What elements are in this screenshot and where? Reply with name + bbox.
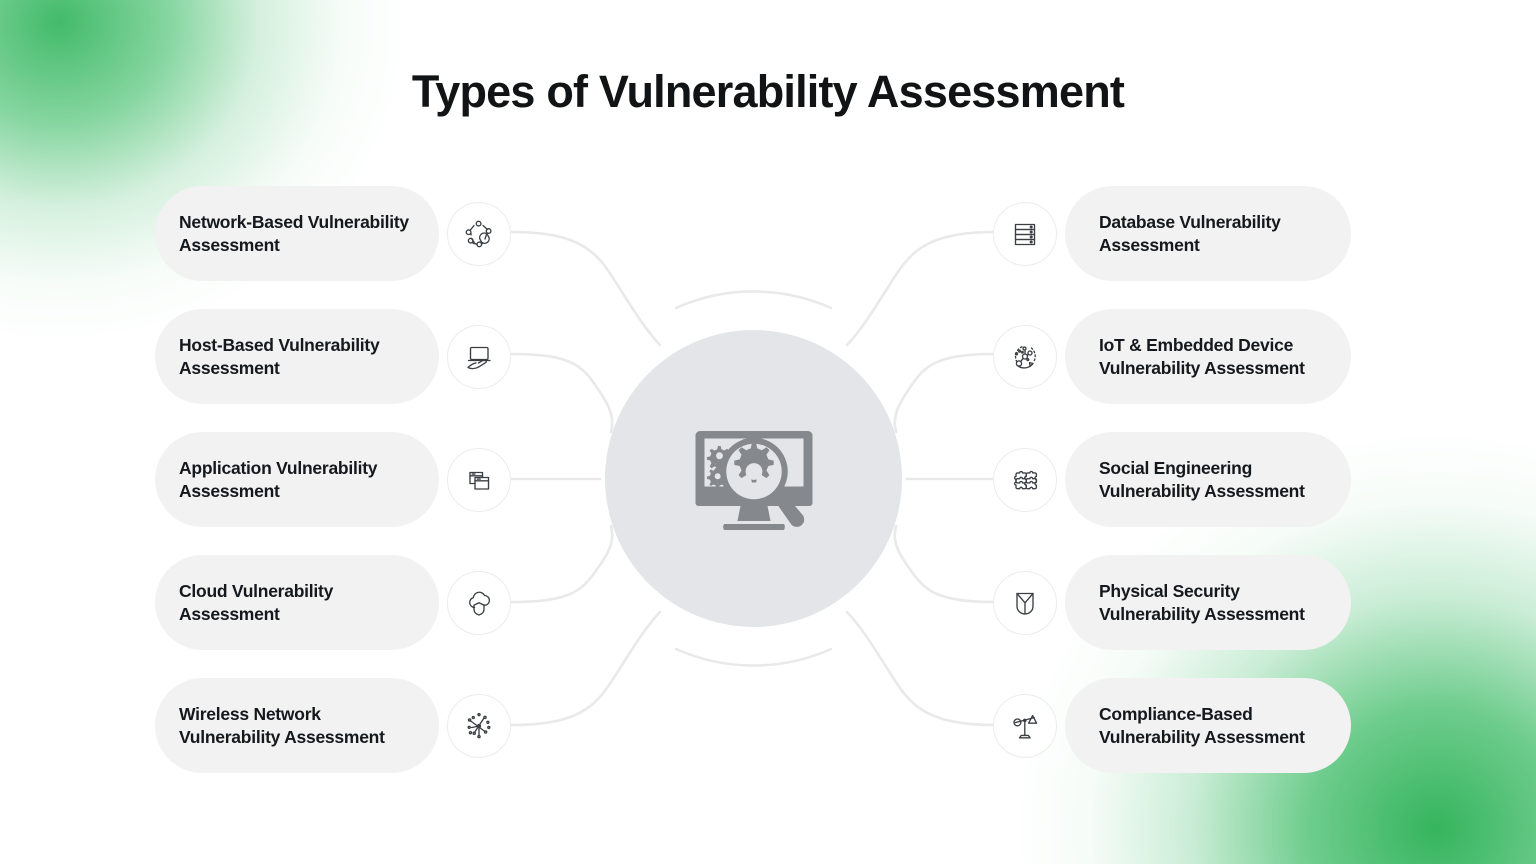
pill-network-based[interactable]: Network-Based Vulnerability Assessment: [155, 186, 439, 281]
balance-scale-icon: [993, 694, 1057, 758]
pill-social-engineering[interactable]: Social Engineering Vulnerability Assessm…: [1065, 432, 1351, 527]
list-item-host-based[interactable]: Host-Based Vulnerability Assessment: [155, 309, 511, 404]
pill-label: Host-Based Vulnerability Assessment: [179, 334, 413, 380]
pill-wireless[interactable]: Wireless Network Vulnerability Assessmen…: [155, 678, 439, 773]
app-windows-icon: [447, 448, 511, 512]
pill-application[interactable]: Application Vulnerability Assessment: [155, 432, 439, 527]
shield-icon: [993, 571, 1057, 635]
list-item-social-engineering[interactable]: Social Engineering Vulnerability Assessm…: [993, 432, 1351, 527]
pill-label: Database Vulnerability Assessment: [1099, 211, 1327, 257]
laptop-in-hand-icon: [447, 325, 511, 389]
pill-label: Network-Based Vulnerability Assessment: [179, 211, 413, 257]
list-item-compliance[interactable]: Compliance-Based Vulnerability Assessmen…: [993, 678, 1351, 773]
puzzle-pieces-icon: [993, 448, 1057, 512]
pill-compliance[interactable]: Compliance-Based Vulnerability Assessmen…: [1065, 678, 1351, 773]
server-rack-icon: [993, 202, 1057, 266]
pill-cloud[interactable]: Cloud Vulnerability Assessment: [155, 555, 439, 650]
pill-label: Social Engineering Vulnerability Assessm…: [1099, 457, 1327, 503]
pill-label: Application Vulnerability Assessment: [179, 457, 413, 503]
list-item-database[interactable]: Database Vulnerability Assessment: [993, 186, 1351, 281]
monitor-gears-magnifier-icon: [679, 404, 829, 554]
list-item-cloud[interactable]: Cloud Vulnerability Assessment: [155, 555, 511, 650]
pill-label: Cloud Vulnerability Assessment: [179, 580, 413, 626]
pill-database[interactable]: Database Vulnerability Assessment: [1065, 186, 1351, 281]
pill-label: Physical Security Vulnerability Assessme…: [1099, 580, 1327, 626]
page-title: Types of Vulnerability Assessment: [0, 66, 1536, 118]
list-item-iot[interactable]: IoT & Embedded Device Vulnerability Asse…: [993, 309, 1351, 404]
wireless-radial-network-icon: [447, 694, 511, 758]
pill-physical-security[interactable]: Physical Security Vulnerability Assessme…: [1065, 555, 1351, 650]
network-nodes-icon: [447, 202, 511, 266]
cloud-shield-icon: [447, 571, 511, 635]
pill-label: IoT & Embedded Device Vulnerability Asse…: [1099, 334, 1327, 380]
pill-iot[interactable]: IoT & Embedded Device Vulnerability Asse…: [1065, 309, 1351, 404]
pill-label: Wireless Network Vulnerability Assessmen…: [179, 703, 413, 749]
pill-label: Compliance-Based Vulnerability Assessmen…: [1099, 703, 1327, 749]
iot-orbit-icon: [993, 325, 1057, 389]
list-item-network-based[interactable]: Network-Based Vulnerability Assessment: [155, 186, 511, 281]
list-item-application[interactable]: Application Vulnerability Assessment: [155, 432, 511, 527]
list-item-physical-security[interactable]: Physical Security Vulnerability Assessme…: [993, 555, 1351, 650]
center-hub: [605, 330, 902, 627]
pill-host-based[interactable]: Host-Based Vulnerability Assessment: [155, 309, 439, 404]
infographic-canvas: Network-Based Vulnerability Assessment H…: [0, 0, 1536, 864]
list-item-wireless[interactable]: Wireless Network Vulnerability Assessmen…: [155, 678, 511, 773]
